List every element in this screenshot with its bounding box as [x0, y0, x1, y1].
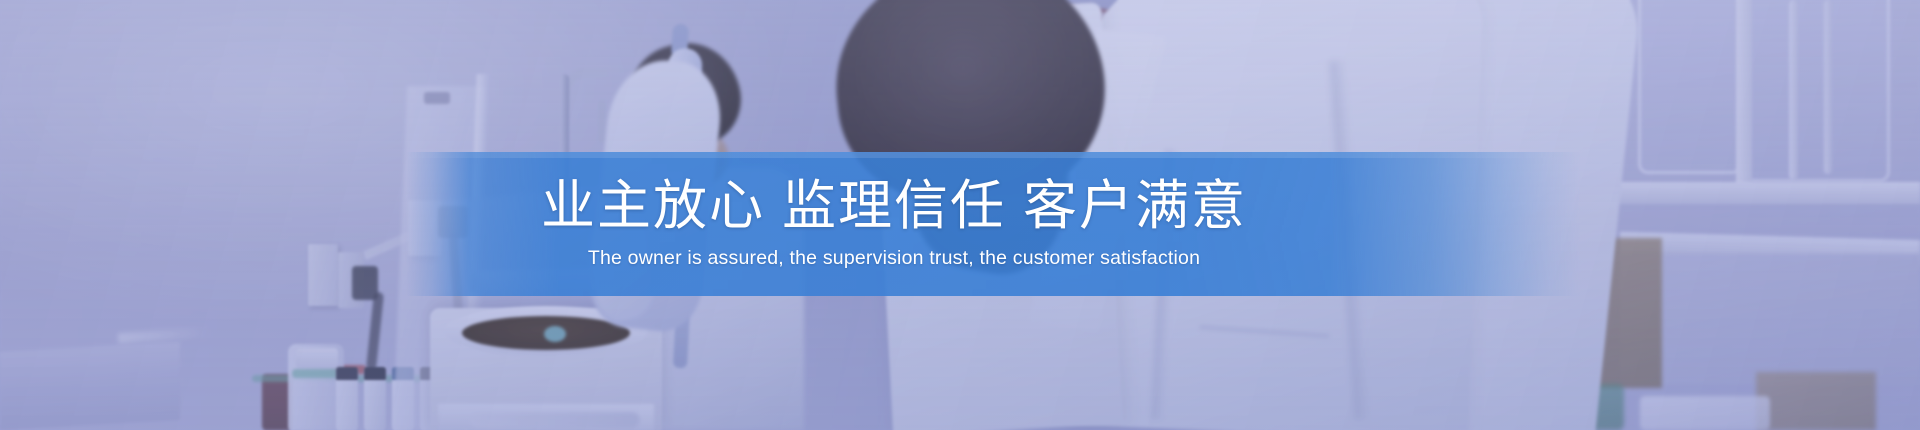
banner-text-block: 业主放心 监理信任 客户满意 The owner is assured, the…	[0, 152, 1920, 296]
banner-headline: 业主放心 监理信任 客户满意	[541, 179, 1247, 233]
banner-subtitle: The owner is assured, the supervision tr…	[588, 249, 1200, 269]
hero-banner: 业主放心 监理信任 客户满意 The owner is assured, the…	[0, 0, 1920, 430]
